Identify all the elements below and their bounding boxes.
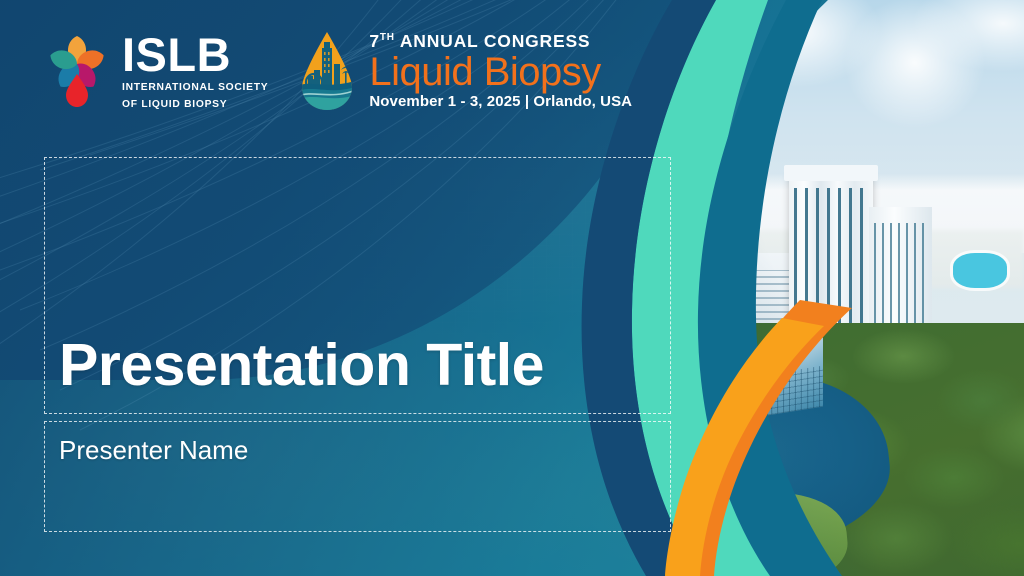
title-placeholder-box[interactable]: Presentation Title — [44, 157, 671, 414]
islb-subtitle-line2: OF LIQUID BIOPSY — [122, 98, 268, 111]
presenter-placeholder-box[interactable]: Presenter Name — [44, 421, 671, 532]
islb-wordmark: ISLB INTERNATIONAL SOCIETY OF LIQUID BIO… — [122, 31, 268, 110]
congress-edition: 7TH ANNUAL CONGRESS — [369, 33, 632, 51]
presentation-slide: ISLB INTERNATIONAL SOCIETY OF LIQUID BIO… — [0, 0, 1024, 576]
islb-logo[interactable]: ISLB INTERNATIONAL SOCIETY OF LIQUID BIO… — [44, 30, 268, 112]
orlando-skyline-droplet-icon — [296, 30, 358, 112]
islb-acronym: ISLB — [122, 31, 268, 78]
congress-text-block: 7TH ANNUAL CONGRESS Liquid Biopsy Novemb… — [369, 33, 632, 109]
flower-droplet-icon — [44, 30, 110, 112]
header-logo-bar: ISLB INTERNATIONAL SOCIETY OF LIQUID BIO… — [44, 30, 632, 112]
congress-branding: 7TH ANNUAL CONGRESS Liquid Biopsy Novemb… — [296, 30, 632, 112]
islb-subtitle-line1: INTERNATIONAL SOCIETY — [122, 81, 268, 94]
congress-event-name: Liquid Biopsy — [369, 52, 632, 92]
page-title[interactable]: Presentation Title — [45, 335, 544, 413]
congress-dates-location: November 1 - 3, 2025 | Orlando, USA — [369, 94, 632, 109]
presenter-name[interactable]: Presenter Name — [45, 422, 248, 465]
